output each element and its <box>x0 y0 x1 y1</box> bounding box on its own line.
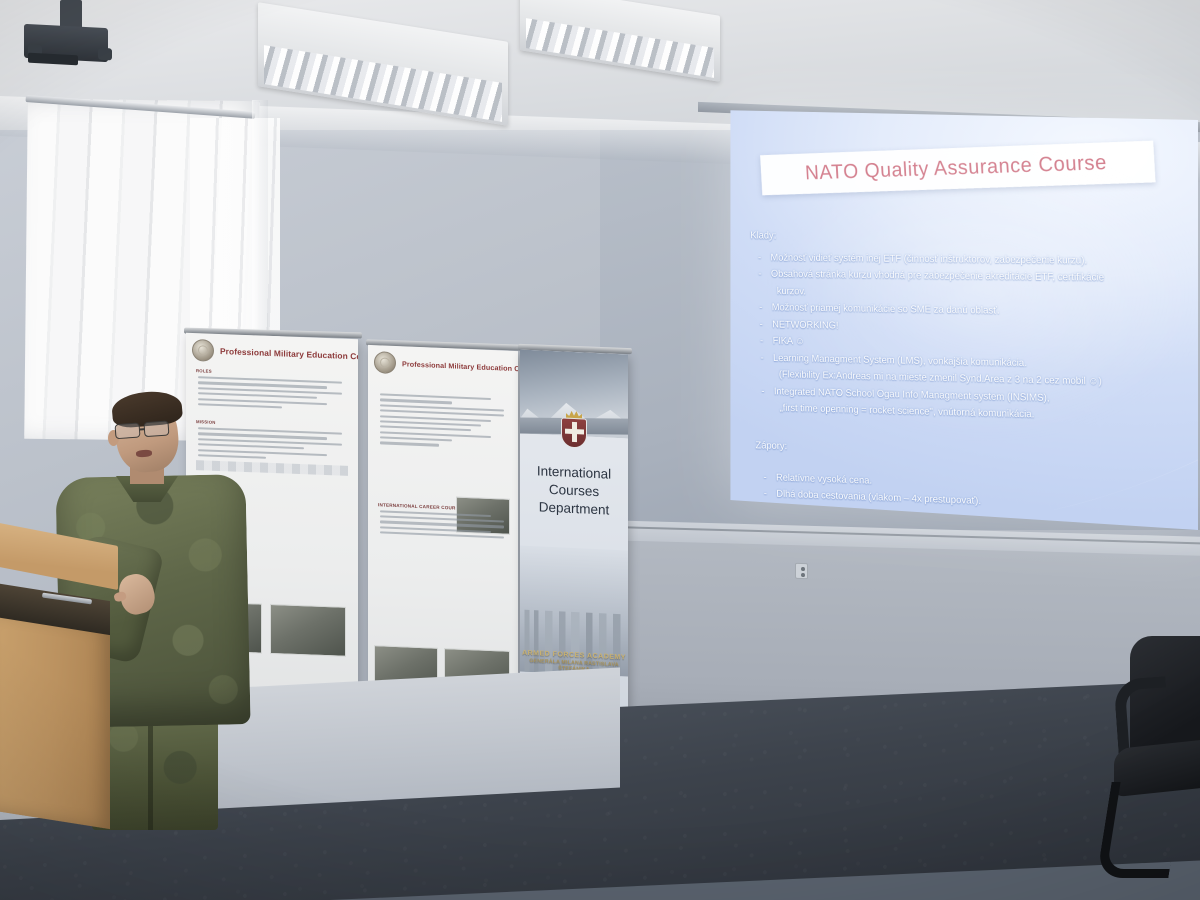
banner-title: Professional Military Education Centre <box>220 346 358 362</box>
banner-header: Professional Military Education Centre <box>368 345 518 379</box>
roundel-logo-icon <box>374 351 396 374</box>
slide-title: NATO Quality Assurance Course <box>805 151 1108 185</box>
banner-photo <box>270 604 346 657</box>
wall-power-outlet-icon <box>795 563 808 579</box>
banner-header: Professional Military Education Centre <box>186 333 358 368</box>
ceiling-projector-icon <box>14 0 118 62</box>
slide-body: Klady: Možnosť vidieť systém inej ETF (č… <box>750 229 1186 530</box>
presentation-slide: NATO Quality Assurance Course Klady: Mož… <box>730 110 1198 530</box>
banner-body-text <box>380 393 510 449</box>
black-cantilever-chair[interactable] <box>1096 636 1200 886</box>
glasses-lens-left <box>115 423 141 440</box>
title-line-3: Department <box>520 497 628 520</box>
crest-shield <box>561 417 587 448</box>
projection-screen: NATO Quality Assurance Course Klady: Mož… <box>730 110 1198 530</box>
pros-list: Možnosť vidieť systém inej ETF (činnosť … <box>756 251 1183 429</box>
pros-heading: Klady: <box>750 229 1178 248</box>
glasses-lens-right <box>143 420 169 437</box>
lectern-body <box>0 611 110 829</box>
wooden-lectern <box>0 534 124 834</box>
projector-knob-right <box>98 48 112 61</box>
banner-title: International Courses Department <box>520 462 628 520</box>
roundel-logo-icon <box>192 339 214 362</box>
chair-leg-frame <box>1096 782 1183 878</box>
shield-crest-icon <box>557 409 591 451</box>
banner-title: Professional Military Education Centre <box>402 359 518 374</box>
classroom-photo-scene: NATO Quality Assurance Course Klady: Mož… <box>0 0 1200 900</box>
